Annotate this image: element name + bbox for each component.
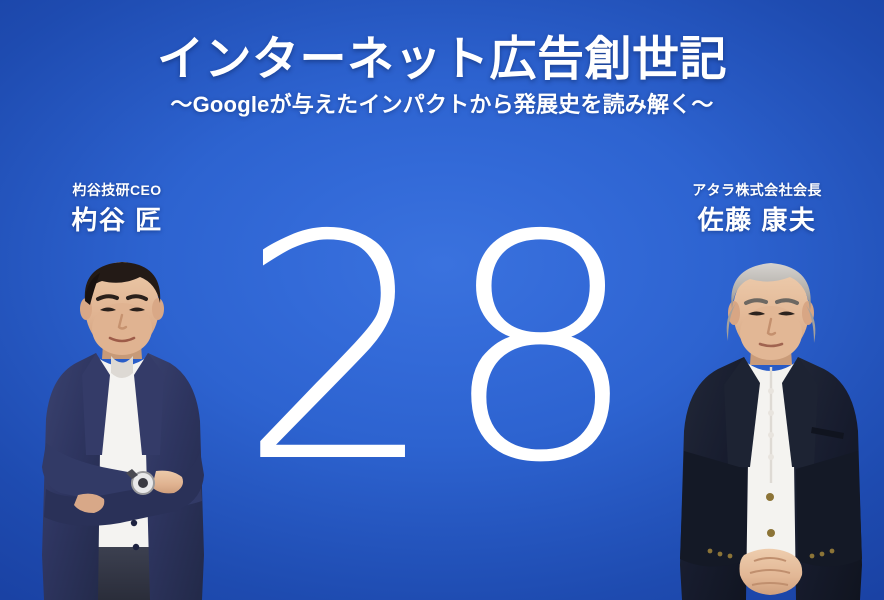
speaker-left-name: 杓谷 匠	[0, 205, 247, 236]
page-title: インターネット広告創世記	[0, 0, 884, 86]
slide-header: インターネット広告創世記 〜Googleが与えたインパクトから発展史を読み解く〜	[0, 0, 884, 118]
page-subtitle: 〜Googleが与えたインパクトから発展史を読み解く〜	[0, 86, 884, 118]
portrait-right	[662, 255, 880, 600]
speaker-right: アタラ株式会社会長 佐藤 康夫	[627, 182, 884, 236]
speaker-right-name: 佐藤 康夫	[627, 205, 884, 236]
speaker-left-role: 杓谷技研CEO	[0, 182, 247, 200]
portrait-left	[16, 255, 228, 600]
title-slide: インターネット広告創世記 〜Googleが与えたインパクトから発展史を読み解く〜…	[0, 0, 884, 600]
speaker-right-role: アタラ株式会社会長	[627, 182, 884, 200]
speaker-left: 杓谷技研CEO 杓谷 匠	[0, 182, 247, 236]
